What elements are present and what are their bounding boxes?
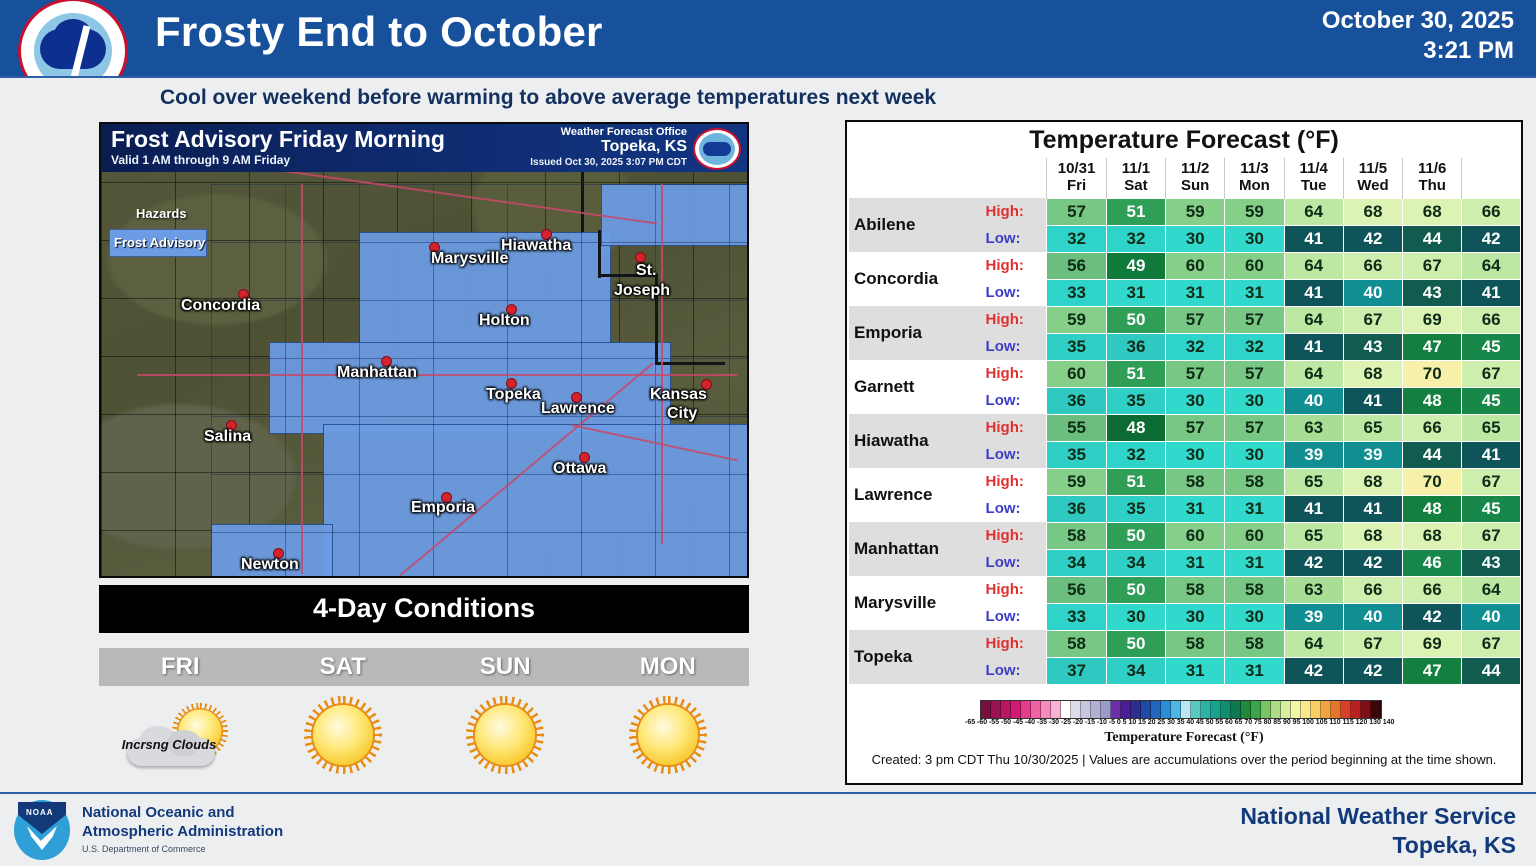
low-temp-cell: 32 — [1047, 225, 1107, 252]
column-day: Thu — [1403, 177, 1461, 194]
colorbar-swatch — [1041, 701, 1051, 718]
subtitle-text: Cool over weekend before warming to abov… — [160, 86, 936, 110]
low-temp-cell: 30 — [1166, 387, 1225, 414]
column-date: 11/4 — [1285, 160, 1343, 177]
colorbar-tick: 35 — [1177, 719, 1185, 726]
colorbar-swatch — [1251, 701, 1261, 718]
high-temp-cell: 65 — [1284, 522, 1343, 549]
low-temp-cell: 40 — [1343, 603, 1402, 630]
high-label: High: — [980, 414, 1047, 441]
low-temp-cell: 41 — [1284, 225, 1343, 252]
footer-agency: National Weather Service — [1240, 802, 1516, 831]
high-temp-cell: 63 — [1284, 414, 1343, 441]
advisory-county-grid — [211, 184, 747, 576]
colorbar-tick: 65 — [1235, 719, 1243, 726]
column-date: 11/2 — [1166, 160, 1224, 177]
colorbar-swatch — [1141, 701, 1151, 718]
day-icons-row: Incrsng Clouds — [99, 690, 749, 790]
low-temp-cell: 39 — [1284, 441, 1343, 468]
high-temp-cell: 51 — [1106, 360, 1165, 387]
city-label: Lawrence — [541, 400, 615, 418]
low-temp-cell: 48 — [1403, 387, 1462, 414]
city-label: Emporia — [411, 499, 475, 517]
colorbar-swatch — [1271, 701, 1281, 718]
colorbar-tick: -35 — [1037, 719, 1047, 726]
low-temp-cell: 41 — [1284, 495, 1343, 522]
high-temp-cell: 50 — [1106, 630, 1165, 657]
legend-frost-advisory: Frost Advisory — [109, 229, 207, 257]
high-temp-cell: 69 — [1403, 630, 1462, 657]
colorbar-swatch — [1131, 701, 1141, 718]
header-bar: Frosty End to October October 30, 2025 3… — [0, 0, 1536, 76]
city-label: St. — [636, 262, 656, 280]
colorbar-swatch — [1051, 701, 1061, 718]
low-temp-cell: 30 — [1166, 603, 1225, 630]
city-name-cell: Emporia — [849, 306, 980, 360]
city-label: Joseph — [614, 282, 670, 300]
colorbar-swatch — [1231, 701, 1241, 718]
high-temp-cell: 64 — [1462, 576, 1521, 603]
conditions-heading-bar: 4-Day Conditions — [99, 585, 749, 633]
high-temp-cell: 59 — [1166, 198, 1225, 225]
high-temp-cell: 57 — [1047, 198, 1107, 225]
low-temp-cell: 41 — [1284, 333, 1343, 360]
city-name-cell: Lawrence — [849, 468, 980, 522]
colorbar-tick: 105 — [1316, 719, 1328, 726]
low-temp-cell: 31 — [1106, 279, 1165, 306]
low-label: Low: — [980, 441, 1047, 468]
city-name-cell: Manhattan — [849, 522, 980, 576]
low-temp-cell: 37 — [1047, 657, 1107, 684]
column-day: Sun — [1166, 177, 1224, 194]
high-temp-cell: 65 — [1343, 414, 1402, 441]
table-row: LawrenceHigh:5951585865687067 — [849, 468, 1521, 495]
forecast-table: 10/31Fri11/1Sat11/2Sun11/3Mon11/4Tue11/5… — [849, 158, 1521, 685]
city-name-cell: Abilene — [849, 198, 980, 252]
column-header-thu: 11/6Thu — [1403, 158, 1462, 198]
colorbar-tick: 5 — [1123, 719, 1127, 726]
city-name-cell: Concordia — [849, 252, 980, 306]
colorbar-tick: 70 — [1244, 719, 1252, 726]
low-temp-cell: 35 — [1047, 333, 1107, 360]
colorbar-ticks: -65-60-55-50-45-40-35-30-25-20-15-10-505… — [965, 719, 1395, 726]
low-temp-cell: 31 — [1166, 495, 1225, 522]
high-temp-cell: 57 — [1166, 360, 1225, 387]
low-temp-cell: 32 — [1225, 333, 1284, 360]
high-temp-cell: 70 — [1403, 360, 1462, 387]
low-temp-cell: 43 — [1343, 333, 1402, 360]
high-temp-cell: 68 — [1403, 522, 1462, 549]
high-label: High: — [980, 576, 1047, 603]
colorbar-tick: -25 — [1061, 719, 1071, 726]
table-row: GarnettHigh:6051575764687067 — [849, 360, 1521, 387]
low-label: Low: — [980, 495, 1047, 522]
colorbar-tick: 95 — [1293, 719, 1301, 726]
colorbar-swatch — [1181, 701, 1191, 718]
colorbar-swatch — [1211, 701, 1221, 718]
colorbar-swatch — [1321, 701, 1331, 718]
colorbar-tick: 80 — [1264, 719, 1272, 726]
column-day: Fri — [1047, 177, 1106, 194]
low-temp-cell: 42 — [1343, 225, 1402, 252]
high-label: High: — [980, 360, 1047, 387]
colorbar-swatch — [1101, 701, 1111, 718]
low-temp-cell: 45 — [1462, 495, 1521, 522]
low-temp-cell: 33 — [1047, 279, 1107, 306]
header-datetime: October 30, 2025 3:21 PM — [1322, 6, 1514, 66]
city-label: Concordia — [181, 297, 260, 315]
city-label: Kansas — [650, 386, 707, 404]
colorbar-tick: -45 — [1013, 719, 1023, 726]
low-temp-cell: 33 — [1047, 603, 1107, 630]
high-temp-cell: 58 — [1166, 630, 1225, 657]
column-header-fri: 10/31Fri — [1047, 158, 1107, 198]
colorbar-swatch — [991, 701, 1001, 718]
table-row: AbileneHigh:5751595964686866 — [849, 198, 1521, 225]
table-row: ConcordiaHigh:5649606064666764 — [849, 252, 1521, 279]
column-day: Tue — [1285, 177, 1343, 194]
low-temp-cell: 40 — [1462, 603, 1521, 630]
low-temp-cell: 48 — [1403, 495, 1462, 522]
high-label: High: — [980, 522, 1047, 549]
low-temp-cell: 31 — [1225, 549, 1284, 576]
low-temp-cell: 47 — [1403, 657, 1462, 684]
column-header-wed: 11/5Wed — [1343, 158, 1402, 198]
colorbar-tick: 20 — [1148, 719, 1156, 726]
colorbar-tick: -65 — [965, 719, 975, 726]
table-row: HiawathaHigh:5548575763656665 — [849, 414, 1521, 441]
high-label: High: — [980, 468, 1047, 495]
highway-line — [301, 184, 303, 574]
low-temp-cell: 30 — [1166, 225, 1225, 252]
colorbar-tick: -30 — [1049, 719, 1059, 726]
river-line — [581, 172, 584, 232]
high-temp-cell: 57 — [1225, 414, 1284, 441]
colorbar-swatch — [1301, 701, 1311, 718]
colorbar-tick: 10 — [1128, 719, 1136, 726]
map-header: Frost Advisory Friday Morning Valid 1 AM… — [101, 124, 747, 172]
table-row: MarysvilleHigh:5650585863666664 — [849, 576, 1521, 603]
high-temp-cell: 60 — [1225, 522, 1284, 549]
column-header-tue: 11/4Tue — [1284, 158, 1343, 198]
city-name-cell: Garnett — [849, 360, 980, 414]
colorbar-swatch — [981, 701, 991, 718]
legend-frost-advisory-label: Frost Advisory — [114, 235, 205, 250]
colorbar-tick: -10 — [1097, 719, 1107, 726]
high-temp-cell: 51 — [1106, 198, 1165, 225]
low-temp-cell: 42 — [1462, 225, 1521, 252]
footer-nws-block: National Weather Service Topeka, KS — [1240, 802, 1516, 860]
colorbar-tick: 75 — [1254, 719, 1262, 726]
colorbar-tick: 60 — [1225, 719, 1233, 726]
column-day: Sat — [1107, 177, 1165, 194]
city-label: Salina — [204, 428, 251, 446]
low-temp-cell: 30 — [1225, 603, 1284, 630]
high-temp-cell: 48 — [1106, 414, 1165, 441]
colorbar-swatch — [1161, 701, 1171, 718]
low-temp-cell: 46 — [1403, 549, 1462, 576]
noaa-agency-name: National Oceanic and Atmospheric Adminis… — [82, 804, 283, 842]
low-temp-cell: 32 — [1106, 441, 1165, 468]
column-date: 10/31 — [1047, 160, 1106, 177]
colorbar-tick: 15 — [1138, 719, 1146, 726]
column-header-extra — [1462, 158, 1521, 198]
colorbar-swatch — [1351, 701, 1361, 718]
high-temp-cell: 56 — [1047, 576, 1107, 603]
colorbar-tick: 140 — [1383, 719, 1395, 726]
low-temp-cell: 34 — [1047, 549, 1107, 576]
colorbar-swatch — [1341, 701, 1351, 718]
high-temp-cell: 64 — [1284, 360, 1343, 387]
frost-advisory-map[interactable]: Marysville Hiawatha St. Joseph Concordia… — [99, 122, 749, 578]
city-label: Topeka — [486, 386, 541, 404]
high-temp-cell: 65 — [1284, 468, 1343, 495]
colorbar-swatch — [1361, 701, 1371, 718]
colorbar-swatch — [1021, 701, 1031, 718]
high-temp-cell: 63 — [1284, 576, 1343, 603]
low-temp-cell: 36 — [1047, 387, 1107, 414]
high-temp-cell: 56 — [1047, 252, 1107, 279]
colorbar-tick: 85 — [1273, 719, 1281, 726]
column-header-sat: 11/1Sat — [1106, 158, 1165, 198]
sun-icon — [629, 696, 707, 774]
colorbar-swatch — [1081, 701, 1091, 718]
high-temp-cell: 67 — [1462, 360, 1521, 387]
nws-seal-icon — [693, 128, 741, 170]
hazards-label: Hazards — [136, 206, 187, 221]
high-temp-cell: 67 — [1343, 306, 1402, 333]
low-label: Low: — [980, 657, 1047, 684]
day-labels-row: FRI SAT SUN MON — [99, 648, 749, 686]
high-temp-cell: 64 — [1284, 198, 1343, 225]
low-temp-cell: 43 — [1403, 279, 1462, 306]
high-temp-cell: 64 — [1284, 252, 1343, 279]
low-temp-cell: 39 — [1284, 603, 1343, 630]
sun-icon — [304, 696, 382, 774]
low-temp-cell: 41 — [1343, 387, 1402, 414]
high-temp-cell: 65 — [1462, 414, 1521, 441]
low-temp-cell: 34 — [1106, 549, 1165, 576]
city-name-cell: Marysville — [849, 576, 980, 630]
colorbar-swatch — [1031, 701, 1041, 718]
high-temp-cell: 51 — [1106, 468, 1165, 495]
high-temp-cell: 58 — [1225, 576, 1284, 603]
low-label: Low: — [980, 549, 1047, 576]
high-temp-cell: 57 — [1166, 306, 1225, 333]
city-label: Ottawa — [553, 460, 606, 478]
low-temp-cell: 34 — [1106, 657, 1165, 684]
river-line — [655, 362, 725, 365]
colorbar-swatch — [1261, 701, 1271, 718]
colorbar-tick: 25 — [1157, 719, 1165, 726]
high-temp-cell: 58 — [1166, 576, 1225, 603]
high-label: High: — [980, 306, 1047, 333]
colorbar-tick: 30 — [1167, 719, 1175, 726]
colorbar-swatch — [1371, 701, 1381, 718]
low-temp-cell: 40 — [1343, 279, 1402, 306]
low-temp-cell: 41 — [1462, 441, 1521, 468]
high-temp-cell: 58 — [1225, 630, 1284, 657]
column-date: 11/3 — [1225, 160, 1283, 177]
map-wfo-label: Weather Forecast Office — [561, 126, 687, 138]
high-temp-cell: 69 — [1403, 306, 1462, 333]
subtitle-bar: Cool over weekend before warming to abov… — [0, 76, 1536, 121]
high-temp-cell: 67 — [1343, 630, 1402, 657]
map-wfo-city: Topeka, KS — [601, 138, 687, 156]
low-temp-cell: 30 — [1106, 603, 1165, 630]
table-row: ManhattanHigh:5850606065686867 — [849, 522, 1521, 549]
condition-text-fri: Incrsng Clouds — [121, 737, 217, 752]
colorbar-tick: 55 — [1215, 719, 1223, 726]
low-temp-cell: 44 — [1403, 441, 1462, 468]
colorbar-tick: 90 — [1283, 719, 1291, 726]
high-temp-cell: 66 — [1462, 198, 1521, 225]
noaa-department: U.S. Department of Commerce — [82, 844, 206, 854]
colorbar-tick: -20 — [1073, 719, 1083, 726]
colorbar-tick: 110 — [1329, 719, 1340, 726]
table-row: EmporiaHigh:5950575764676966 — [849, 306, 1521, 333]
low-label: Low: — [980, 279, 1047, 306]
high-temp-cell: 67 — [1462, 468, 1521, 495]
low-temp-cell: 45 — [1462, 387, 1521, 414]
page-title: Frosty End to October — [155, 8, 603, 56]
low-temp-cell: 31 — [1166, 549, 1225, 576]
colorbar-tick: 45 — [1196, 719, 1204, 726]
colorbar-swatch — [1061, 701, 1071, 718]
high-temp-cell: 57 — [1166, 414, 1225, 441]
low-temp-cell: 43 — [1462, 549, 1521, 576]
river-line — [598, 230, 601, 278]
colorbar-title: Temperature Forecast (°F) — [847, 730, 1521, 746]
colorbar-tick: -60 — [977, 719, 987, 726]
city-label: Newton — [241, 556, 299, 574]
map-valid-time: Valid 1 AM through 9 AM Friday — [111, 153, 290, 167]
column-day: Mon — [1225, 177, 1283, 194]
low-temp-cell: 45 — [1462, 333, 1521, 360]
colorbar-swatch — [1151, 701, 1161, 718]
colorbar-swatch — [1091, 701, 1101, 718]
colorbar-tick: 50 — [1206, 719, 1214, 726]
high-temp-cell: 58 — [1047, 522, 1107, 549]
high-temp-cell: 59 — [1047, 306, 1107, 333]
colorbar-tick: -55 — [989, 719, 999, 726]
colorbar — [980, 700, 1382, 719]
high-temp-cell: 64 — [1284, 306, 1343, 333]
table-header-row: 10/31Fri11/1Sat11/2Sun11/3Mon11/4Tue11/5… — [849, 158, 1521, 198]
low-temp-cell: 31 — [1166, 279, 1225, 306]
low-temp-cell: 47 — [1403, 333, 1462, 360]
low-temp-cell: 41 — [1343, 495, 1402, 522]
colorbar-swatch — [1281, 701, 1291, 718]
high-temp-cell: 50 — [1106, 522, 1165, 549]
header-time: 3:21 PM — [1322, 36, 1514, 66]
colorbar-tick: 40 — [1186, 719, 1194, 726]
high-temp-cell: 67 — [1462, 630, 1521, 657]
map-issued-time: Issued Oct 30, 2025 3:07 PM CDT — [530, 157, 687, 168]
day-cell-mon — [587, 690, 750, 790]
high-temp-cell: 67 — [1403, 252, 1462, 279]
low-label: Low: — [980, 387, 1047, 414]
city-label: Hiawatha — [501, 237, 571, 255]
high-temp-cell: 68 — [1343, 198, 1402, 225]
colorbar-swatch — [1121, 701, 1131, 718]
day-label-sat: SAT — [262, 648, 425, 686]
low-temp-cell: 30 — [1225, 225, 1284, 252]
high-temp-cell: 64 — [1462, 252, 1521, 279]
highway-line — [137, 374, 737, 376]
colorbar-tick: 130 — [1369, 719, 1381, 726]
low-label: Low: — [980, 603, 1047, 630]
weather-graphic: Frosty End to October October 30, 2025 3… — [0, 0, 1536, 864]
high-label: High: — [980, 630, 1047, 657]
map-title: Frost Advisory Friday Morning — [111, 126, 445, 153]
high-temp-cell: 66 — [1403, 576, 1462, 603]
low-temp-cell: 31 — [1166, 657, 1225, 684]
high-temp-cell: 70 — [1403, 468, 1462, 495]
noaa-wordmark: NOAA — [26, 808, 54, 817]
column-date: 11/5 — [1344, 160, 1402, 177]
colorbar-tick: -5 — [1109, 719, 1115, 726]
colorbar-tick: -15 — [1085, 719, 1095, 726]
day-label-fri: FRI — [99, 648, 262, 686]
colorbar-swatch — [1191, 701, 1201, 718]
colorbar-tick: -50 — [1001, 719, 1011, 726]
high-temp-cell: 58 — [1225, 468, 1284, 495]
low-temp-cell: 36 — [1106, 333, 1165, 360]
noaa-logo: NOAA — [14, 800, 72, 860]
low-temp-cell: 31 — [1225, 657, 1284, 684]
low-label: Low: — [980, 333, 1047, 360]
city-label: Manhattan — [337, 364, 417, 382]
high-temp-cell: 66 — [1403, 414, 1462, 441]
noaa-line-2: Atmospheric Administration — [82, 823, 283, 842]
low-temp-cell: 31 — [1225, 279, 1284, 306]
low-temp-cell: 31 — [1225, 495, 1284, 522]
low-temp-cell: 30 — [1166, 441, 1225, 468]
city-label: City — [667, 405, 697, 423]
colorbar-swatch — [1291, 701, 1301, 718]
colorbar-swatch — [1111, 701, 1121, 718]
high-temp-cell: 60 — [1047, 360, 1107, 387]
day-cell-sun — [424, 690, 587, 790]
low-temp-cell: 42 — [1403, 603, 1462, 630]
high-temp-cell: 50 — [1106, 576, 1165, 603]
high-temp-cell: 49 — [1106, 252, 1165, 279]
low-label: Low: — [980, 225, 1047, 252]
high-temp-cell: 59 — [1047, 468, 1107, 495]
high-temp-cell: 64 — [1284, 630, 1343, 657]
high-temp-cell: 58 — [1047, 630, 1107, 657]
conditions-heading: 4-Day Conditions — [99, 593, 749, 624]
low-temp-cell: 41 — [1284, 279, 1343, 306]
high-temp-cell: 57 — [1225, 306, 1284, 333]
column-header-sun: 11/2Sun — [1166, 158, 1225, 198]
day-cell-sat — [262, 690, 425, 790]
colorbar-swatch — [1071, 701, 1081, 718]
low-temp-cell: 30 — [1225, 387, 1284, 414]
city-label: Marysville — [431, 250, 508, 268]
low-temp-cell: 42 — [1343, 657, 1402, 684]
high-temp-cell: 60 — [1225, 252, 1284, 279]
day-cell-fri: Incrsng Clouds — [99, 690, 262, 790]
high-temp-cell: 60 — [1166, 252, 1225, 279]
high-temp-cell: 68 — [1343, 522, 1402, 549]
high-temp-cell: 66 — [1462, 306, 1521, 333]
colorbar-tick: 115 — [1343, 719, 1354, 726]
highway-line — [661, 184, 663, 544]
low-temp-cell: 30 — [1225, 441, 1284, 468]
high-temp-cell: 67 — [1462, 522, 1521, 549]
